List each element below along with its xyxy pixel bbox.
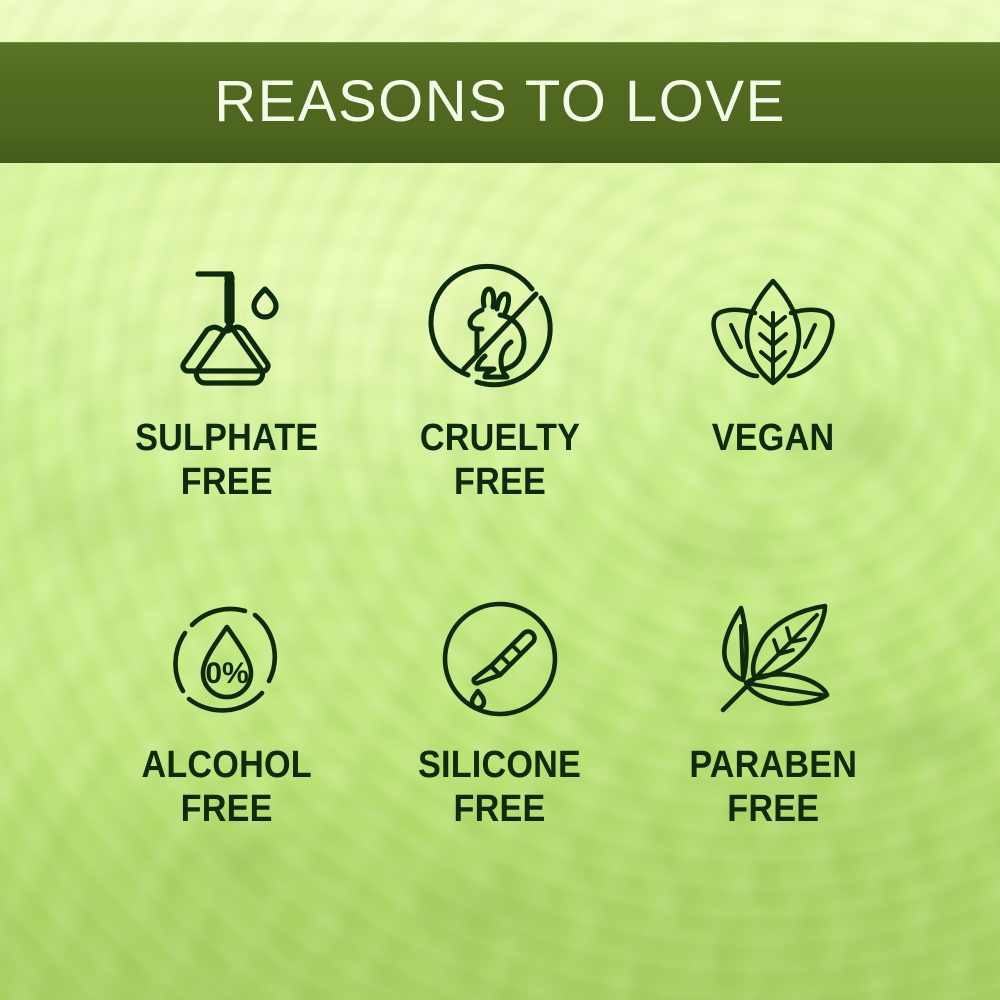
- circle-arc-top: [192, 609, 245, 625]
- feature-label-line1: SILICONE: [419, 744, 582, 786]
- header-banner: REASONS TO LOVE: [0, 42, 1000, 163]
- feature-label-line1: ALCOHOL: [141, 744, 311, 786]
- feature-label-line2: FREE: [141, 787, 311, 831]
- feature-label-line1: VEGAN: [712, 417, 835, 459]
- circle-arc-right: [255, 615, 275, 681]
- feature-label: SILICONE FREE: [419, 743, 582, 832]
- promo-graphic: REASONS TO LOVE SULPHATE FREE: [0, 0, 1000, 1000]
- feature-label-line1: PARABEN: [689, 744, 857, 786]
- feature-vegan: VEGAN: [637, 262, 910, 505]
- feature-label-line2: FREE: [420, 460, 580, 504]
- leaf-branch-icon: [707, 589, 839, 729]
- feature-cruelty-free: CRUELTY FREE: [363, 262, 636, 505]
- circle-arc-left: [175, 633, 184, 691]
- features-grid: SULPHATE FREE: [90, 262, 910, 832]
- zero-percent-droplet-icon: 0%: [163, 589, 291, 729]
- page-title: REASONS TO LOVE: [214, 73, 786, 131]
- feature-paraben-free: PARABEN FREE: [637, 589, 910, 832]
- feature-silicone-free: SILICONE FREE: [363, 589, 636, 832]
- feature-label-line2: FREE: [135, 460, 318, 504]
- feature-label-line1: CRUELTY: [420, 417, 580, 459]
- feature-label-line1: SULPHATE: [135, 417, 318, 459]
- feature-label: ALCOHOL FREE: [141, 743, 311, 832]
- feature-label: SULPHATE FREE: [135, 416, 318, 505]
- flask-droplet-icon: [164, 262, 290, 402]
- feature-alcohol-free: 0% ALCOHOL FREE: [90, 589, 363, 832]
- feature-label: PARABEN FREE: [689, 743, 857, 832]
- dropper-pipette-icon: [436, 589, 564, 729]
- feature-label-line2: FREE: [689, 787, 857, 831]
- leaves-vegan-icon: [709, 262, 837, 402]
- no-animal-testing-icon: [436, 262, 564, 402]
- feature-sulphate-free: SULPHATE FREE: [90, 262, 363, 505]
- feature-label-line2: FREE: [419, 787, 582, 831]
- feature-label: CRUELTY FREE: [420, 416, 580, 505]
- feature-label: VEGAN: [712, 416, 835, 460]
- zero-percent-text: 0%: [205, 657, 248, 690]
